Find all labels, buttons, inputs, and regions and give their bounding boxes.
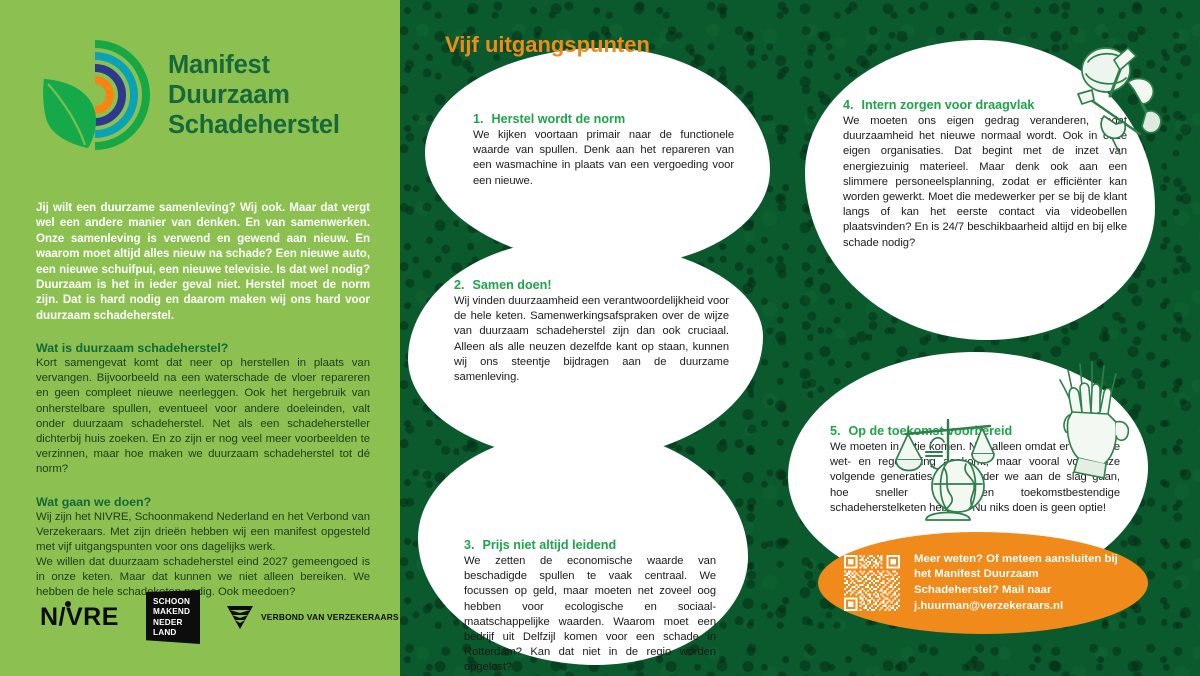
point-1-heading: 1. Herstel wordt de norm [473,112,734,126]
point-4-heading-text: Intern zorgen voor draagvlak [862,98,1035,112]
point-2-heading: 2. Samen doen! [454,278,729,292]
wordmark-line-2: Duurzaam [168,80,340,110]
left-panel: Manifest Duurzaam Schadeherstel Jij wilt… [0,0,400,676]
smn-line-2: MAKEND [153,607,200,617]
point-5-heading-text: Op de toekomst voorbereid [849,424,1013,438]
brand-wordmark: Manifest Duurzaam Schadeherstel [168,50,340,140]
nivre-logo-dot [65,601,71,607]
verbond-van-verzekeraars-logo: VERBOND VAN VERZEKERAARS [226,604,399,630]
verbond-triangle-icon [226,604,254,630]
smn-line-3: NEDER [153,618,200,628]
point-card-2: 2. Samen doen! Wij vinden duurzaamheid e… [408,240,763,460]
smn-line-1: SCHOON [153,597,200,607]
lead-paragraph: Jij wilt een duurzame samenleving? Wij o… [36,200,370,323]
point-card-1: 1. Herstel wordt de norm We kijken voort… [425,48,770,266]
qr-code[interactable] [844,555,900,611]
point-card-3: 3. Prijs niet altijd leidend We zetten d… [418,430,748,665]
point-1-index: 1. [473,112,488,126]
point-3-heading: 3. Prijs niet altijd leidend [464,538,716,552]
point-5-heading: 5. Op de toekomst voorbereid [830,424,1120,438]
point-2-index: 2. [454,278,469,292]
right-panel-title: Vijf uitgangspunten [445,32,650,58]
point-4-body: We moeten ons eigen gedrag veranderen, z… [843,114,1127,251]
point-4-heading: 4. Intern zorgen voor draagvlak [843,98,1127,112]
wordmark-line-1: Manifest [168,50,340,80]
nivre-logo: N/VRE [40,602,120,632]
brand-logo-block: Manifest Duurzaam Schadeherstel [36,34,370,156]
left-body-copy: Jij wilt een duurzame samenleving? Wij o… [36,200,370,601]
point-1-heading-text: Herstel wordt de norm [492,112,626,126]
right-panel: Vijf uitgangspunten 1. Herstel wordt de … [400,0,1200,676]
point-5-body: We moeten in actie komen. Niet alleen om… [830,440,1120,516]
point-2-body: Wij vinden duurzaamheid een verantwoorde… [454,294,729,385]
point-3-index: 3. [464,538,479,552]
cta-contact-card[interactable]: Meer weten? Of meteen aansluiten bij het… [818,532,1148,634]
section-heading-wat-gaan: Wat gaan we doen? [36,495,370,509]
wordmark-line-3: Schadeherstel [168,110,340,140]
cta-text: Meer weten? Of meteen aansluiten bij het… [914,552,1126,614]
point-1-body: We kijken voortaan primair naar de funct… [473,128,734,189]
smn-line-4: LAND [153,628,200,638]
section-heading-wat-is: Wat is duurzaam schadeherstel? [36,341,370,355]
verbond-logo-text: VERBOND VAN VERZEKERAARS [261,612,399,622]
point-3-body: We zetten de economische waarde van besc… [464,554,716,676]
schoonmakend-nederland-logo: SCHOON MAKEND NEDER LAND [146,590,200,644]
section-paragraph-wat-gaan-1: Wij zijn het NIVRE, Schoonmakend Nederla… [36,510,370,555]
section-paragraph-wat-is: Kort samengevat komt dat neer op herstel… [36,356,370,477]
partner-logos: N/VRE SCHOON MAKEND NEDER LAND VERBOND V… [40,590,399,644]
point-5-index: 5. [830,424,845,438]
point-2-heading-text: Samen doen! [473,278,552,292]
point-card-4: 4. Intern zorgen voor draagvlak We moete… [805,40,1155,340]
point-3-heading-text: Prijs niet altijd leidend [483,538,617,552]
point-4-index: 4. [843,98,858,112]
manifest-leaf-circle-logo-icon [36,36,154,154]
poster-canvas: Manifest Duurzaam Schadeherstel Jij wilt… [0,0,1200,676]
nivre-logo-text: N/VRE [40,603,119,631]
